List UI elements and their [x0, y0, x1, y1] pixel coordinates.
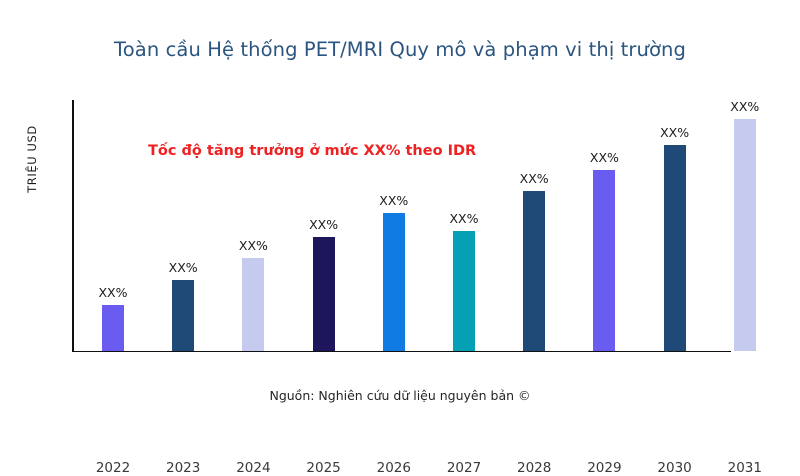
bar[interactable]	[383, 213, 405, 351]
bar[interactable]	[453, 231, 475, 351]
bar[interactable]	[664, 145, 686, 351]
bar-value-label: XX%	[379, 193, 408, 208]
y-axis-line	[72, 100, 74, 352]
bar-value-label: XX%	[660, 125, 689, 140]
bar-value-label: XX%	[309, 217, 338, 232]
bar[interactable]	[734, 119, 756, 351]
bar[interactable]	[102, 305, 124, 351]
x-axis-tick-label: 2027	[434, 460, 494, 476]
bar-value-label: XX%	[98, 285, 127, 300]
x-axis-tick-label: 2024	[223, 460, 283, 476]
bar[interactable]	[523, 191, 545, 351]
x-axis-tick-label: 2022	[83, 460, 143, 476]
bar-value-label: XX%	[169, 260, 198, 275]
bar-value-label: XX%	[239, 238, 268, 253]
x-axis-tick-label: 2030	[645, 460, 705, 476]
plot-area: XX%XX%XX%XX%XX%XX%XX%XX%XX%XX% 202220232…	[72, 100, 784, 352]
x-axis-tick-label: 2026	[364, 460, 424, 476]
x-axis-tick-label: 2025	[294, 460, 354, 476]
x-axis-line	[72, 351, 731, 353]
chart-title: Toàn cầu Hệ thống PET/MRI Quy mô và phạm…	[0, 38, 800, 61]
bar-value-label: XX%	[520, 171, 549, 186]
bar-chart: Toàn cầu Hệ thống PET/MRI Quy mô và phạm…	[0, 0, 800, 450]
y-axis-title: TRIỆU USD	[25, 99, 39, 219]
bar-value-label: XX%	[449, 211, 478, 226]
x-axis-tick-label: 2029	[574, 460, 634, 476]
x-axis-tick-label: 2023	[153, 460, 213, 476]
growth-rate-annotation: Tốc độ tăng trưởng ở mức XX% theo IDR	[148, 143, 476, 159]
bar-value-label: XX%	[730, 99, 759, 114]
source-note: Nguồn: Nghiên cứu dữ liệu nguyên bản ©	[0, 388, 800, 403]
bar[interactable]	[242, 258, 264, 351]
x-axis-tick-label: 2031	[715, 460, 775, 476]
x-axis-tick-label: 2028	[504, 460, 564, 476]
bar-value-label: XX%	[590, 150, 619, 165]
bar[interactable]	[313, 237, 335, 351]
bar[interactable]	[593, 170, 615, 351]
bar[interactable]	[172, 280, 194, 351]
